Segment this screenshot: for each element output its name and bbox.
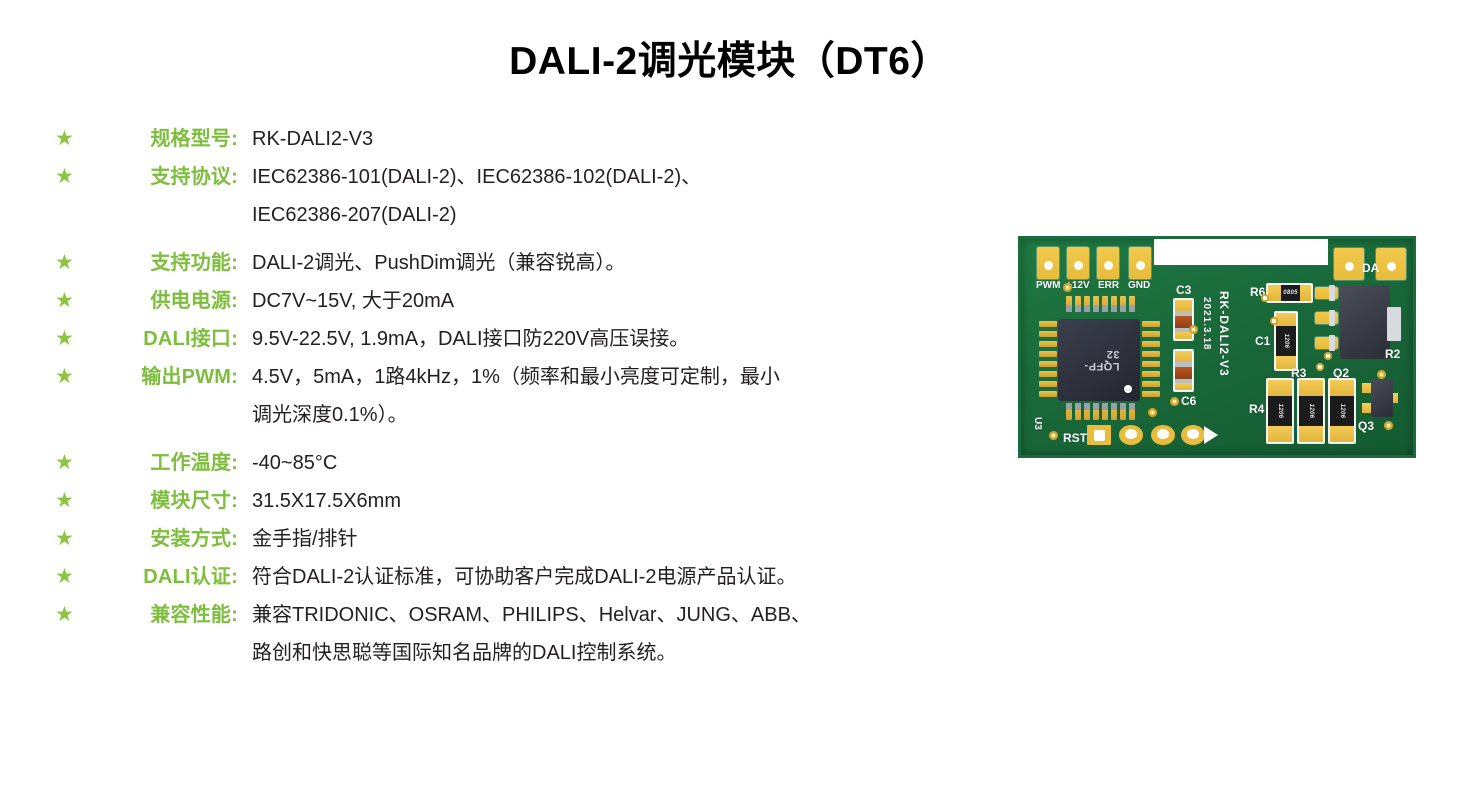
product-spec-page: DALI-2调光模块（DT6） ★ 规格型号: RK-DALI2-V3 ★ 支持… — [0, 0, 1459, 792]
silk-pwm: PWM — [1036, 280, 1060, 291]
spec-label: 工作温度: — [83, 446, 238, 480]
component-q2 — [1362, 379, 1398, 417]
spec-row-continuation: ★ x IEC62386-207(DALI-2) — [55, 198, 995, 232]
via-q2 — [1384, 421, 1393, 430]
pad-pwm — [1037, 247, 1059, 279]
silk-board-name: RK-DALI2-V3 — [1217, 291, 1231, 377]
spec-label: 输出PWM: — [83, 360, 238, 394]
spec-label: 支持功能: — [83, 246, 238, 280]
component-r2: 1206 — [1328, 378, 1356, 444]
spec-label: 支持协议: — [83, 160, 238, 194]
spec-row: ★ 输出PWM: 4.5V，5mA，1路4kHz，1%（频率和最小亮度可定制，最… — [55, 360, 995, 394]
pad-round-1 — [1119, 425, 1143, 445]
spec-row: ★ 供电电源: DC7V~15V, 大于20mA — [55, 284, 995, 318]
spec-row: ★ 工作温度: -40~85°C — [55, 446, 995, 480]
pad-da-2 — [1376, 248, 1406, 280]
spec-row-continuation: ★ x 调光深度0.1%）。 — [55, 398, 995, 432]
star-icon: ★ — [55, 598, 83, 632]
silk-board-date: 2021.3.18 — [1201, 297, 1212, 351]
via-c3 — [1189, 325, 1198, 334]
pad-gnd — [1129, 247, 1151, 279]
pad-round-2 — [1151, 425, 1175, 445]
mcu-pin1-dot — [1124, 385, 1132, 393]
silk-gnd: GND — [1128, 280, 1150, 291]
polarity-triangle-icon — [1204, 426, 1218, 444]
star-icon: ★ — [55, 560, 83, 594]
via-r — [1316, 363, 1324, 371]
silk-err: ERR — [1098, 280, 1119, 291]
silk-da: DA — [1362, 261, 1379, 275]
spec-row: ★ DALI接口: 9.5V-22.5V, 1.9mA，DALI接口防220V高… — [55, 322, 995, 356]
page-title: DALI-2调光模块（DT6） — [0, 30, 1459, 86]
spec-row: ★ 支持功能: DALI-2调光、PushDim调光（兼容锐高）。 — [55, 246, 995, 280]
component-r4: 1206 — [1266, 378, 1294, 444]
silk-rst: RST — [1063, 431, 1087, 445]
component-r6: 0805 — [1266, 283, 1313, 303]
spec-row: ★ 安装方式: 金手指/排针 — [55, 522, 995, 556]
silk-q3: R2 — [1385, 347, 1400, 361]
spec-value-continued: 调光深度0.1%）。 — [238, 398, 995, 432]
star-icon: ★ — [55, 160, 83, 194]
via-1 — [1049, 431, 1058, 440]
silk-c6: C6 — [1181, 394, 1196, 408]
via-2 — [1148, 408, 1157, 417]
spec-row: ★ 兼容性能: 兼容TRIDONIC、OSRAM、PHILIPS、Helvar、… — [55, 598, 995, 632]
via-r6 — [1261, 294, 1269, 302]
silk-u3: U3 — [1032, 417, 1043, 430]
spec-label: DALI接口: — [83, 322, 238, 356]
spec-list: ★ 规格型号: RK-DALI2-V3 ★ 支持协议: IEC62386-101… — [55, 122, 995, 674]
spec-value: 兼容TRIDONIC、OSRAM、PHILIPS、Helvar、JUNG、ABB… — [238, 598, 995, 632]
pad-round-3 — [1181, 425, 1205, 445]
silk-c1: C1 — [1255, 334, 1270, 348]
spec-value: DALI-2调光、PushDim调光（兼容锐高）。 — [238, 246, 995, 280]
spec-label: 安装方式: — [83, 522, 238, 556]
spec-value: 符合DALI-2认证标准，可协助客户完成DALI-2电源产品认证。 — [238, 560, 995, 594]
spec-value: RK-DALI2-V3 — [238, 122, 995, 156]
star-icon: ★ — [55, 360, 83, 394]
spec-value: -40~85°C — [238, 446, 995, 480]
spec-label: 模块尺寸: — [83, 484, 238, 518]
spec-label: 规格型号: — [83, 122, 238, 156]
spec-label: DALI认证: — [83, 560, 238, 594]
component-r3: 1206 — [1297, 378, 1325, 444]
pcb-board: PWM +12V ERR GND DA — [1021, 239, 1413, 455]
spec-value: DC7V~15V, 大于20mA — [238, 284, 995, 318]
spec-value: 31.5X17.5X6mm — [238, 484, 995, 518]
silk-r4: R4 — [1249, 402, 1264, 416]
via-c6 — [1170, 397, 1179, 406]
silk-q2: Q3 — [1358, 419, 1374, 433]
spec-label: 供电电源: — [83, 284, 238, 318]
spec-value: 金手指/排针 — [238, 522, 995, 556]
spec-value: 4.5V，5mA，1路4kHz，1%（频率和最小亮度可定制，最小 — [238, 360, 995, 394]
spec-row: ★ 模块尺寸: 31.5X17.5X6mm — [55, 484, 995, 518]
spec-row: ★ 规格型号: RK-DALI2-V3 — [55, 122, 995, 156]
spec-label: 兼容性能: — [83, 598, 238, 632]
via-3 — [1063, 283, 1072, 292]
via-ic — [1324, 352, 1332, 360]
spec-row: ★ DALI认证: 符合DALI-2认证标准，可协助客户完成DALI-2电源产品… — [55, 560, 995, 594]
silk-c3: C3 — [1176, 283, 1191, 297]
star-icon: ★ — [55, 484, 83, 518]
spec-value: IEC62386-101(DALI-2)、IEC62386-102(DALI-2… — [238, 160, 995, 194]
pcb-product-image: PWM +12V ERR GND DA — [1018, 236, 1416, 458]
star-icon: ★ — [55, 122, 83, 156]
pad-12v — [1067, 247, 1089, 279]
via-c1 — [1270, 317, 1278, 325]
star-icon: ★ — [55, 284, 83, 318]
spec-row: ★ 支持协议: IEC62386-101(DALI-2)、IEC62386-10… — [55, 160, 995, 194]
pcb-notch — [1154, 239, 1328, 265]
spec-value-continued: 路创和快思聪等国际知名品牌的DALI控制系统。 — [238, 636, 995, 670]
pad-rst — [1087, 425, 1111, 445]
pad-da-1 — [1334, 248, 1364, 280]
component-c3 — [1173, 298, 1194, 341]
via-q2b — [1377, 370, 1386, 379]
star-icon: ★ — [55, 446, 83, 480]
component-q3 — [1340, 285, 1390, 359]
component-c6 — [1173, 349, 1194, 392]
star-icon: ★ — [55, 246, 83, 280]
pad-err — [1097, 247, 1119, 279]
spec-value-continued: IEC62386-207(DALI-2) — [238, 198, 995, 232]
spec-value: 9.5V-22.5V, 1.9mA，DALI接口防220V高压误接。 — [238, 322, 995, 356]
mcu-package-label: LQFP-32 — [1079, 348, 1120, 372]
star-icon: ★ — [55, 522, 83, 556]
star-icon: ★ — [55, 322, 83, 356]
mcu-chip: LQFP-32 — [1058, 319, 1140, 401]
spec-row-continuation: ★ x 路创和快思聪等国际知名品牌的DALI控制系统。 — [55, 636, 995, 670]
